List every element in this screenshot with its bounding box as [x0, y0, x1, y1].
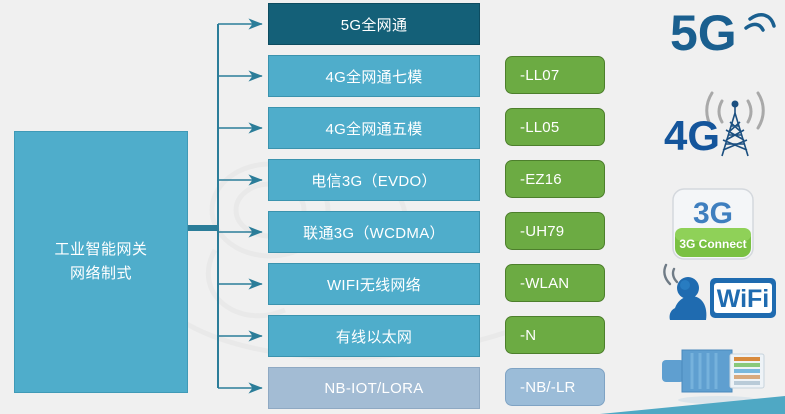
network-box[interactable]: 4G全网通五模 — [268, 107, 480, 149]
diagram-canvas: 工业智能网关 网络制式 5G全网通 4G全网通七模 -LL07 4G全网通五 — [0, 0, 785, 414]
wifi-logo-icon: WiFi — [658, 262, 778, 328]
3g-connect-icon: 3G 3G Connect — [672, 188, 754, 260]
network-code-tag[interactable]: -NB/-LR — [505, 368, 605, 406]
svg-text:4G: 4G — [664, 112, 720, 159]
svg-text:3G Connect: 3G Connect — [679, 237, 746, 251]
network-box[interactable]: 5G全网通 — [268, 3, 480, 45]
network-code-tag[interactable]: -UH79 — [505, 212, 605, 250]
network-box[interactable]: WIFI无线网络 — [268, 263, 480, 305]
network-code-tag[interactable]: -EZ16 — [505, 160, 605, 198]
network-code-tag[interactable]: -WLAN — [505, 264, 605, 302]
network-code-tag[interactable]: -N — [505, 316, 605, 354]
network-box[interactable]: 电信3G（EVDO） — [268, 159, 480, 201]
network-code-tag[interactable]: -LL07 — [505, 56, 605, 94]
network-box[interactable]: NB-IOT/LORA — [268, 367, 480, 409]
svg-text:3G: 3G — [693, 197, 733, 230]
network-box[interactable]: 联通3G（WCDMA） — [268, 211, 480, 253]
5g-logo-icon: 5G — [668, 2, 778, 60]
network-box[interactable]: 4G全网通七模 — [268, 55, 480, 97]
4g-tower-icon: 4G — [662, 88, 780, 160]
network-code-tag[interactable]: -LL05 — [505, 108, 605, 146]
svg-text:5G: 5G — [670, 5, 737, 60]
network-box[interactable]: 有线以太网 — [268, 315, 480, 357]
svg-text:WiFi: WiFi — [717, 285, 770, 313]
corner-band — [600, 392, 785, 414]
